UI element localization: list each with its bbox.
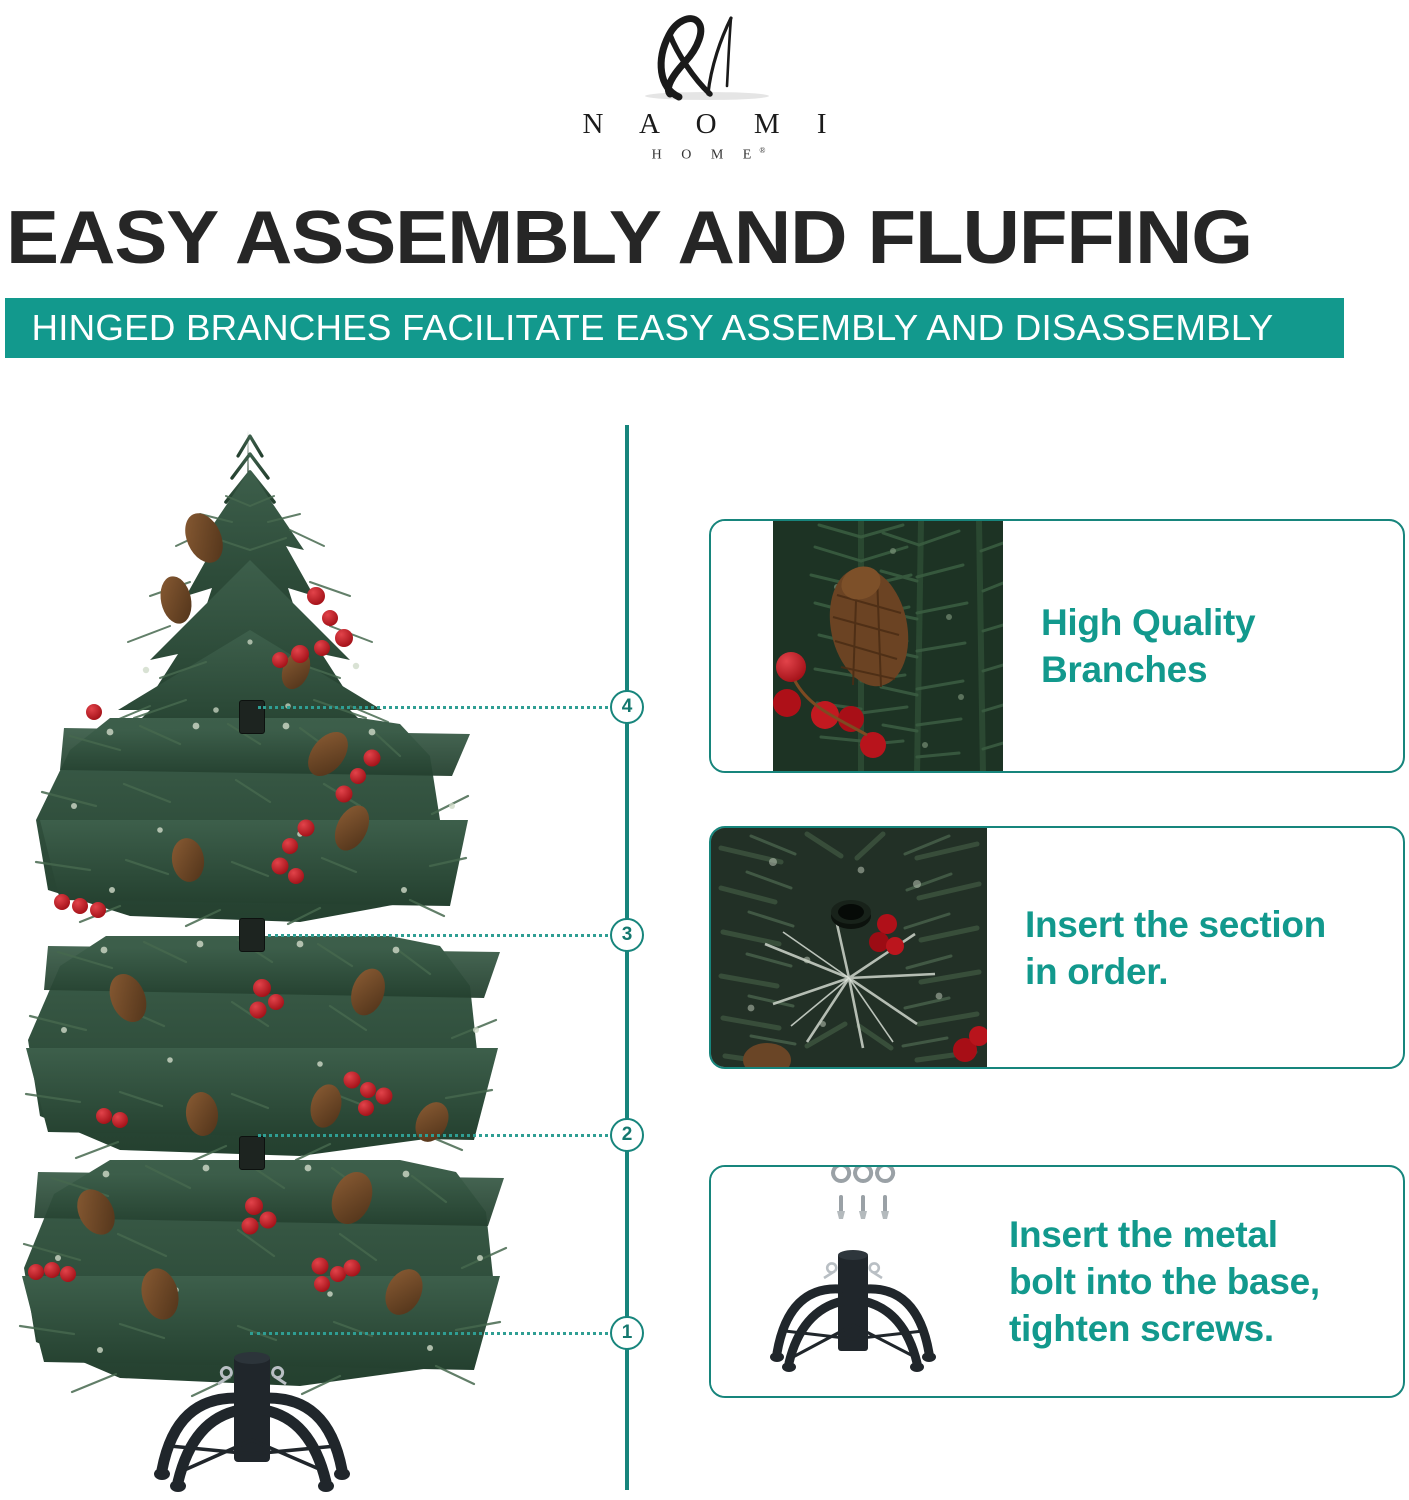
leader-line-step-2 <box>258 1134 608 1137</box>
tree-section-upper-middle <box>36 718 470 926</box>
tree-section-top <box>86 428 388 740</box>
step-marker-1[interactable]: 1 <box>610 1316 644 1350</box>
card-high-quality-branches[interactable]: High Quality Branches <box>709 519 1405 773</box>
tree-sections-svg <box>0 410 620 1500</box>
tree-assembly-illustration <box>0 410 620 1500</box>
card-body: Insert the section in order. <box>987 828 1403 1067</box>
brand-subname: H O M E® <box>0 146 1409 164</box>
subtitle-banner: HINGED BRANCHES FACILITATE EASY ASSEMBLY… <box>5 298 1344 358</box>
card-body: High Quality Branches <box>1003 521 1403 771</box>
leader-line-step-3 <box>268 934 608 937</box>
photo-high-quality-branches <box>711 521 1003 771</box>
infographic-page: N A O M I H O M E® EASY ASSEMBLY AND FLU… <box>0 0 1409 1500</box>
pole-connector-lower <box>239 1136 265 1170</box>
pole-connector-upper <box>239 918 265 952</box>
step-marker-4[interactable]: 4 <box>610 690 644 724</box>
card-insert-metal-bolt[interactable]: Insert the metal bolt into the base, tig… <box>709 1165 1405 1398</box>
tree-stand-illustration <box>711 1167 991 1396</box>
subtitle-text: HINGED BRANCHES FACILITATE EASY ASSEMBLY… <box>5 307 1273 349</box>
branch-closeup-photo <box>711 521 1003 771</box>
card-body: Insert the metal bolt into the base, tig… <box>991 1167 1403 1396</box>
leader-line-step-4 <box>258 706 608 709</box>
photo-insert-section <box>711 828 987 1067</box>
card-title: Insert the section in order. <box>1025 901 1326 995</box>
brand-logo: N A O M I H O M E® <box>0 8 1409 164</box>
page-title: EASY ASSEMBLY AND FLUFFING <box>6 196 1409 278</box>
card-title: Insert the metal bolt into the base, tig… <box>1009 1211 1320 1352</box>
step-marker-2[interactable]: 2 <box>610 1118 644 1152</box>
step-marker-3[interactable]: 3 <box>610 918 644 952</box>
card-insert-section-in-order[interactable]: Insert the section in order. <box>709 826 1405 1069</box>
illustration-metal-stand <box>711 1167 991 1398</box>
tree-section-lower-middle <box>26 936 500 1162</box>
leader-line-step-1 <box>250 1332 608 1335</box>
brand-name: N A O M I <box>0 109 1409 139</box>
hinged-branch-socket-photo <box>711 828 987 1067</box>
card-title: High Quality Branches <box>1041 599 1255 693</box>
naomi-monogram-icon <box>615 8 795 108</box>
pole-socket <box>831 900 871 929</box>
